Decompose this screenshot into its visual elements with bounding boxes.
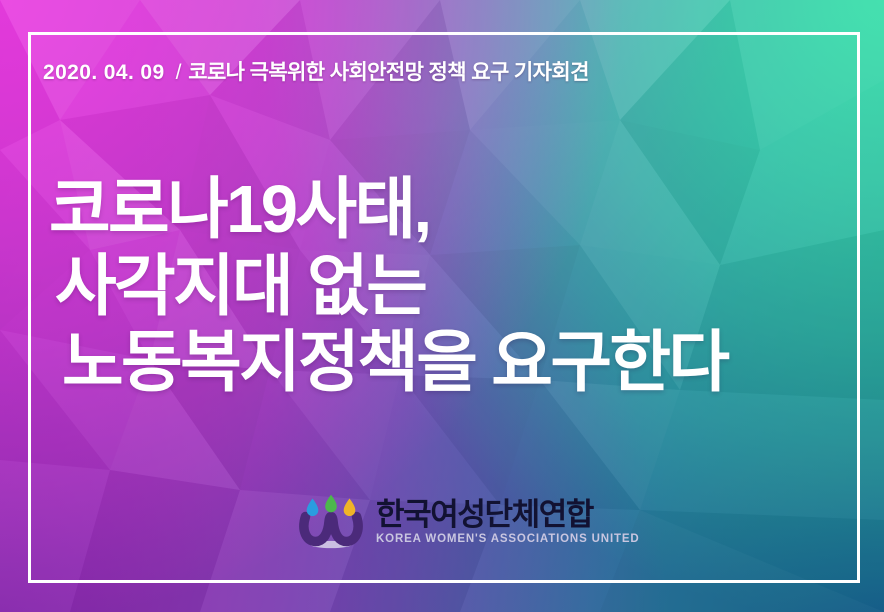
logo-english-name: KOREA WOMEN'S ASSOCIATIONS UNITED [376,534,640,546]
event-title: 코로나 극복위한 사회안전망 정책 요구 기자회견 [188,56,589,86]
header-kicker: 2020. 04. 09 / 코로나 극복위한 사회안전망 정책 요구 기자회견 [43,56,589,86]
press-conference-banner: 2020. 04. 09 / 코로나 극복위한 사회안전망 정책 요구 기자회견… [0,0,884,612]
event-date: 2020. 04. 09 [43,61,165,85]
logo-korean-name: 한국여성단체연합 [376,499,593,530]
headline-line-3: 노동복지정책을 요구한다 [49,325,727,402]
logo-droplet-orange [344,499,356,517]
organization-logo: 한국여성단체연합 KOREA WOMEN'S ASSOCIATIONS UNIT… [298,494,640,550]
logo-omega-stroke [304,517,358,542]
headline: 코로나19사태, 사각지대 없는 노동복지정책을 요구한다 [49,172,727,402]
headline-line-1: 코로나19사태, [49,172,727,249]
logo-droplet-blue [307,499,319,517]
kicker-separator: / [176,61,182,85]
headline-line-2: 사각지대 없는 [49,249,727,326]
logo-wordmark: 한국여성단체연합 KOREA WOMEN'S ASSOCIATIONS UNIT… [376,499,640,546]
korea-women-associations-united-logo-mark [298,494,364,550]
logo-droplet-green [325,495,337,513]
